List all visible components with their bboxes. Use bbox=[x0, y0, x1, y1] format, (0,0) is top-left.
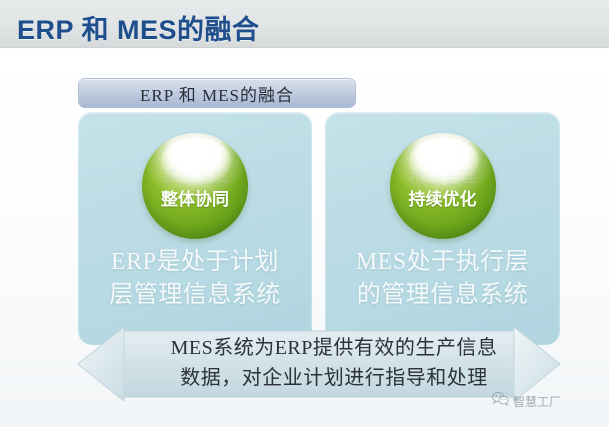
slide-canvas: ERP 和 MES的融合 ERP 和 MES的融合 系统集成 整体协同 ERP是… bbox=[0, 0, 609, 427]
banner-description: MES系统为ERP提供有效的生产信息 数据，对企业计划进行指导和处理 bbox=[134, 333, 534, 393]
sphere-mes: 精细管理 持续优化 bbox=[390, 133, 496, 239]
card-mes-line-2: 的管理信息系统 bbox=[325, 279, 560, 312]
subtitle-label: ERP 和 MES的融合 bbox=[140, 81, 294, 106]
wechat-icon bbox=[492, 391, 509, 411]
sphere-mes-label-bottom: 持续优化 bbox=[409, 190, 477, 210]
sphere-erp: 系统集成 整体协同 bbox=[142, 133, 248, 239]
bidirectional-arrow-banner: MES系统为ERP提供有效的生产信息 数据，对企业计划进行指导和处理 bbox=[78, 327, 560, 401]
card-erp-line-2: 层管理信息系统 bbox=[78, 279, 312, 312]
banner-line-1: MES系统为ERP提供有效的生产信息 bbox=[134, 333, 534, 363]
card-erp-line-1: ERP是处于计划 bbox=[78, 246, 312, 279]
subtitle-banner: ERP 和 MES的融合 bbox=[78, 78, 356, 108]
sphere-erp-label-bottom: 整体协同 bbox=[161, 190, 229, 210]
sphere-erp-labels: 系统集成 整体协同 bbox=[142, 133, 248, 239]
sphere-erp-label-top: 系统集成 bbox=[161, 167, 229, 187]
card-mes: 精细管理 持续优化 MES处于执行层 的管理信息系统 bbox=[325, 112, 560, 345]
slide-header-bar: ERP 和 MES的融合 bbox=[0, 0, 609, 48]
sphere-mes-labels: 精细管理 持续优化 bbox=[390, 133, 496, 239]
card-mes-line-1: MES处于执行层 bbox=[325, 246, 560, 279]
sphere-mes-label-top: 精细管理 bbox=[409, 167, 477, 187]
page-title: ERP 和 MES的融合 bbox=[17, 8, 260, 47]
watermark-label: 智慧工厂 bbox=[513, 393, 561, 410]
banner-line-2: 数据，对企业计划进行指导和处理 bbox=[134, 363, 534, 393]
card-erp: 系统集成 整体协同 ERP是处于计划 层管理信息系统 bbox=[78, 112, 312, 345]
card-erp-description: ERP是处于计划 层管理信息系统 bbox=[78, 246, 312, 312]
card-mes-description: MES处于执行层 的管理信息系统 bbox=[325, 246, 560, 312]
watermark: 智慧工厂 bbox=[492, 391, 561, 411]
